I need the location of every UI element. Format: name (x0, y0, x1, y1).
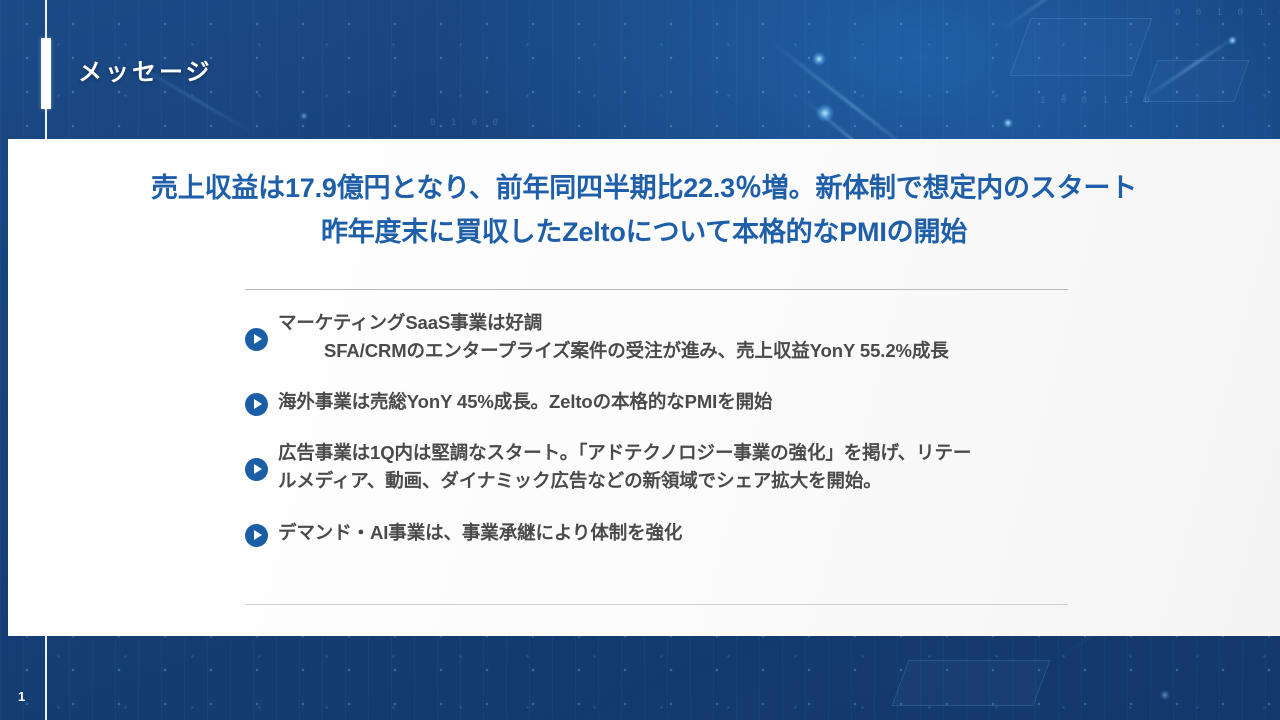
play-circle-icon (245, 393, 268, 416)
background-binary-text: 0 0 1 0 1 0 0 1 0 (1175, 8, 1280, 18)
list-item-line-1: マーケティングSaaS事業は好調 (278, 309, 949, 337)
page-number: 1 (18, 689, 25, 704)
list-item-text: マーケティングSaaS事業は好調 SFA/CRMのエンタープライズ案件の受注が進… (278, 309, 949, 365)
background-glow-dot (300, 112, 308, 120)
background-glow-dot (816, 104, 834, 122)
list-item-text: 広告事業は1Q内は堅調なスタート。「アドテクノロジー事業の強化」を掲げ、リテー … (278, 439, 971, 495)
headline-line-1: 売上収益は17.9億円となり、前年同四半期比22.3％増。新体制で想定内のスター… (48, 167, 1240, 211)
background-binary-text: 1 0 0 1 1 0 (1040, 96, 1155, 106)
background-glow-dot (1003, 118, 1013, 128)
list-item-line-1: デマンド・AI事業は、事業承継により体制を強化 (278, 519, 682, 547)
background-glow-dot (812, 52, 826, 66)
headline-line-2: 昨年度末に買収したZeltoについて本格的なPMIの開始 (48, 211, 1240, 255)
list-item: マーケティングSaaS事業は好調 SFA/CRMのエンタープライズ案件の受注が進… (245, 309, 1245, 365)
background-glow-dot (1228, 36, 1237, 45)
background-chip-shape (1009, 18, 1152, 76)
list-item-text: デマンド・AI事業は、事業承継により体制を強化 (278, 519, 682, 547)
background-chip-shape (892, 660, 1051, 706)
list-item-line-1: 海外事業は売総YonY 45%成長。Zeltoの本格的なPMIを開始 (278, 388, 772, 416)
list-item: デマンド・AI事業は、事業承継により体制を強化 (245, 519, 1245, 547)
content-panel: 売上収益は17.9億円となり、前年同四半期比22.3％増。新体制で想定内のスター… (8, 139, 1280, 636)
background-glow-dot (1160, 690, 1170, 700)
divider-top (245, 289, 1068, 290)
play-circle-icon (245, 328, 268, 351)
background-chip-shape (1142, 60, 1249, 102)
list-item-line-2: ルメディア、動画、ダイナミック広告などの新領域でシェア拡大を開始。 (278, 467, 971, 495)
divider-bottom (245, 604, 1068, 605)
list-item-text: 海外事業は売総YonY 45%成長。Zeltoの本格的なPMIを開始 (278, 388, 772, 416)
list-item-line-2: SFA/CRMのエンタープライズ案件の受注が進み、売上収益YonY 55.2%成… (278, 337, 949, 365)
list-item: 海外事業は売総YonY 45%成長。Zeltoの本格的なPMIを開始 (245, 388, 1245, 416)
headline: 売上収益は17.9億円となり、前年同四半期比22.3％増。新体制で想定内のスター… (48, 167, 1240, 254)
slide: 0 0 1 0 1 0 0 1 0 1 0 0 1 1 0 0 1 0 0 メッ… (0, 0, 1280, 720)
play-circle-icon (245, 458, 268, 481)
bullet-list: マーケティングSaaS事業は好調 SFA/CRMのエンタープライズ案件の受注が進… (245, 309, 1245, 547)
list-item: 広告事業は1Q内は堅調なスタート。「アドテクノロジー事業の強化」を掲げ、リテー … (245, 439, 1245, 495)
title-accent-bar (41, 38, 51, 109)
page-title: メッセージ (78, 52, 213, 87)
background-binary-text: 0 1 0 0 (430, 118, 503, 128)
play-circle-icon (245, 524, 268, 547)
list-item-line-1: 広告事業は1Q内は堅調なスタート。「アドテクノロジー事業の強化」を掲げ、リテー (278, 439, 971, 467)
